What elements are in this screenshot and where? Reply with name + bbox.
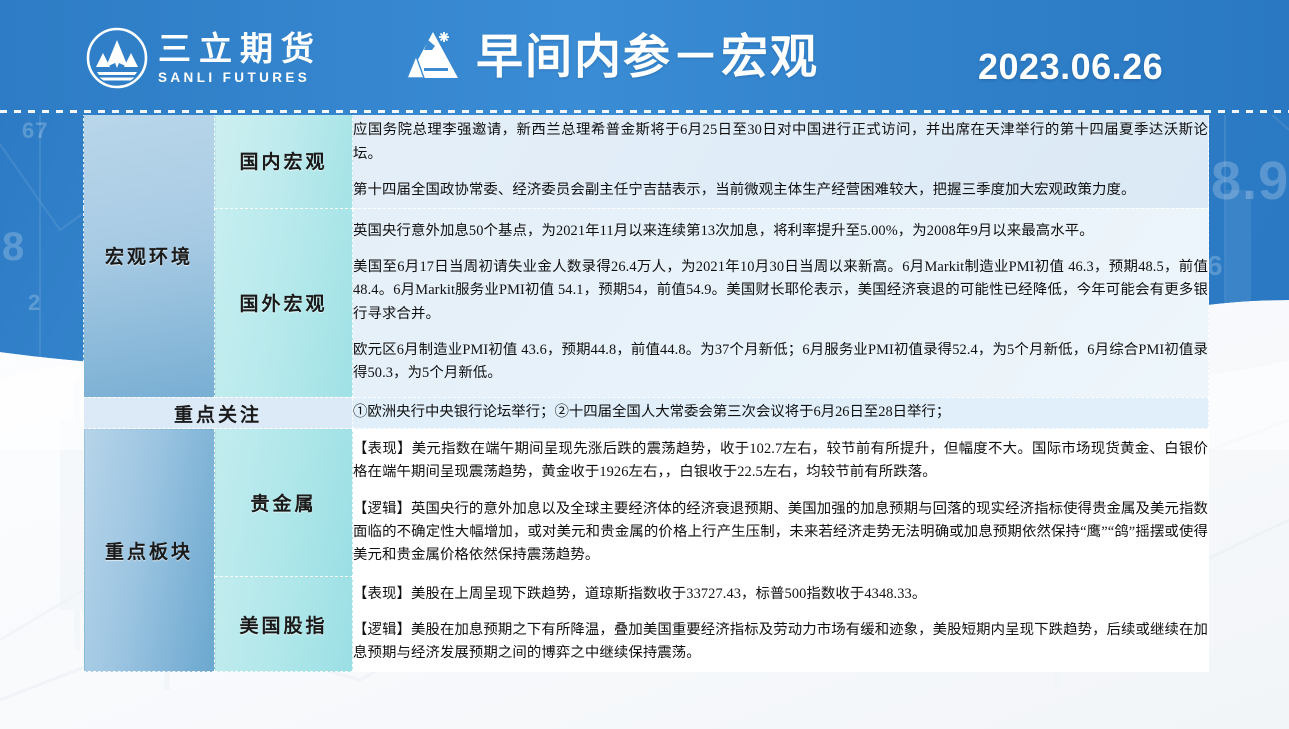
- category-cell-macro: 宏观环境: [84, 114, 215, 398]
- page-title: 早间内参－宏观: [476, 33, 819, 80]
- content-cell-us-stock-index: 【表现】美股在上周呈现下跌趋势，道琼斯指数收于33727.43，标普500指数收…: [353, 577, 1209, 672]
- paragraph: 英国央行意外加息50个基点，为2021年11月以来连续第13次加息，将利率提升至…: [353, 220, 1208, 243]
- paragraph: 【表现】美元指数在端午期间呈现先涨后跌的震荡趋势，收于102.7左右，较节前有所…: [353, 438, 1208, 485]
- table-row: 重点板块 贵金属 【表现】美元指数在端午期间呈现先涨后跌的震荡趋势，收于102.…: [84, 429, 1209, 577]
- report-table-container: 宏观环境 国内宏观 应国务院总理李强邀请，新西兰总理希普金斯将于6月25日至30…: [83, 113, 1208, 672]
- paragraph: 应国务院总理李强邀请，新西兰总理希普金斯将于6月25日至30日对中国进行正式访问…: [353, 119, 1208, 166]
- brand-name-cn: 三立期货: [158, 32, 322, 65]
- subsection-cell-precious-metals: 贵金属: [215, 429, 353, 577]
- snow-mountain-icon: [402, 26, 464, 86]
- content-cell-foreign-macro: 英国央行意外加息50个基点，为2021年11月以来连续第13次加息，将利率提升至…: [353, 208, 1209, 397]
- mountain-circle-logo-icon: [86, 27, 148, 89]
- table-row: 美国股指 【表现】美股在上周呈现下跌趋势，道琼斯指数收于33727.43，标普5…: [84, 577, 1209, 672]
- paragraph: ①欧洲央行中央银行论坛举行；②十四届全国人大常委会第三次会议将于6月26日至28…: [353, 402, 1208, 424]
- subsection-cell-foreign-macro: 国外宏观: [215, 208, 353, 397]
- table-row: 重点关注 ①欧洲央行中央银行论坛举行；②十四届全国人大常委会第三次会议将于6月2…: [84, 397, 1209, 429]
- subsection-cell-us-stock-index: 美国股指: [215, 577, 353, 672]
- content-cell-precious-metals: 【表现】美元指数在端午期间呈现先涨后跌的震荡趋势，收于102.7左右，较节前有所…: [353, 429, 1209, 577]
- paragraph: 【逻辑】美股在加息预期之下有所降温，叠加美国重要经济指标及劳动力市场有缓和迹象，…: [353, 619, 1208, 666]
- page-header: 三立期货 SANLI FUTURES 早间内参－宏观 2023.06.2: [0, 0, 1289, 113]
- report-table: 宏观环境 国内宏观 应国务院总理李强邀请，新西兰总理希普金斯将于6月25日至30…: [83, 113, 1209, 672]
- report-title-group: 早间内参－宏观: [402, 26, 819, 86]
- table-row: 宏观环境 国内宏观 应国务院总理李强邀请，新西兰总理希普金斯将于6月25日至30…: [84, 114, 1209, 209]
- brand-name-en: SANLI FUTURES: [158, 71, 322, 85]
- brand-logo: 三立期货 SANLI FUTURES: [86, 27, 322, 89]
- header-dashed-divider: [0, 110, 1289, 113]
- paragraph: 【表现】美股在上周呈现下跌趋势，道琼斯指数收于33727.43，标普500指数收…: [353, 583, 1208, 606]
- subsection-cell-domestic-macro: 国内宏观: [215, 114, 353, 209]
- content-cell-key-focus: ①欧洲央行中央银行论坛举行；②十四届全国人大常委会第三次会议将于6月26日至28…: [353, 397, 1209, 429]
- paragraph: 欧元区6月制造业PMI初值 43.6，预期44.8，前值44.8。为37个月新低…: [353, 339, 1208, 386]
- report-date: 2023.06.26: [978, 46, 1163, 88]
- category-cell-key-sectors: 重点板块: [84, 429, 215, 672]
- category-cell-key-focus: 重点关注: [84, 397, 353, 429]
- paragraph: 【逻辑】英国央行的意外加息以及全球主要经济体的经济衰退预期、美国加强的加息预期与…: [353, 498, 1208, 568]
- table-row: 国外宏观 英国央行意外加息50个基点，为2021年11月以来连续第13次加息，将…: [84, 208, 1209, 397]
- content-cell-domestic-macro: 应国务院总理李强邀请，新西兰总理希普金斯将于6月25日至30日对中国进行正式访问…: [353, 114, 1209, 209]
- paragraph: 美国至6月17日当周初请失业金人数录得26.4万人，为2021年10月30日当周…: [353, 256, 1208, 326]
- paragraph: 第十四届全国政协常委、经济委员会副主任宁吉喆表示，当前微观主体生产经营困难较大，…: [353, 179, 1208, 202]
- report-page: 56.18 08 95 55 38.99 18.88 38.99 11.66 4…: [0, 0, 1289, 729]
